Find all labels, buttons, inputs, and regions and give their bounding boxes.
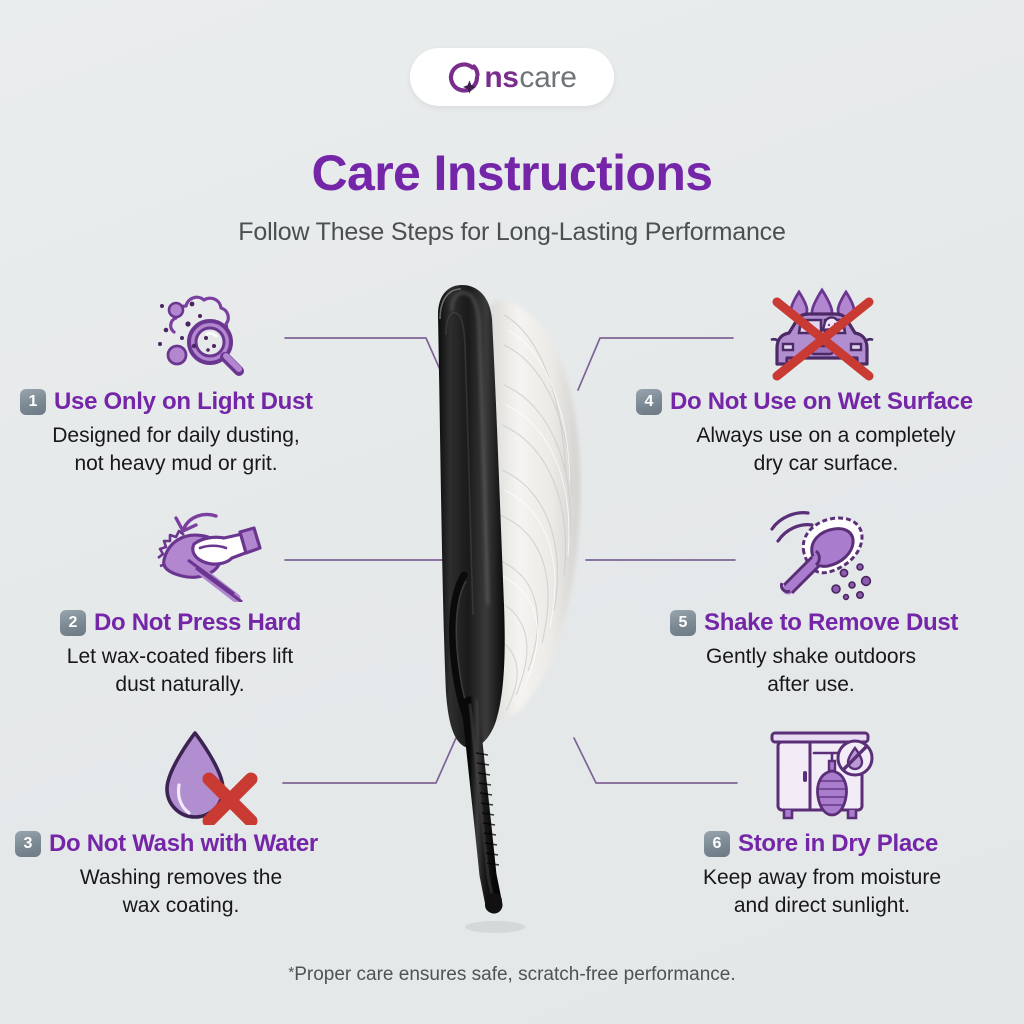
- step-6-number-badge: 6: [704, 831, 730, 857]
- shaking-duster-icon: [764, 507, 880, 603]
- step-6-icon-box: [622, 726, 1022, 826]
- footnote: *Proper care ensures safe, scratch-free …: [0, 964, 1024, 986]
- step-1: 1 Use Only on Light Dust Designed for da…: [8, 284, 408, 478]
- step-3: 3 Do Not Wash with Water Washing removes…: [5, 726, 405, 920]
- step-1-icon-box: [8, 284, 408, 384]
- wet-car-crossed-icon: [765, 286, 879, 382]
- infographic-canvas: ns care Care Instructions Follow These S…: [0, 0, 1024, 1024]
- step-2-number-badge: 2: [60, 610, 86, 636]
- step-3-number-badge: 3: [15, 831, 41, 857]
- hand-pressing-duster-icon: [150, 508, 266, 602]
- step-1-header: 1 Use Only on Light Dust: [8, 388, 408, 416]
- step-5-number-badge: 5: [670, 610, 696, 636]
- brand-logo: ns care: [410, 48, 614, 106]
- step-5: 5 Shake to Remove Dust Gently shake outd…: [622, 505, 1022, 699]
- step-6-description: Keep away from moisture and direct sunli…: [622, 864, 1022, 920]
- step-4-description: Always use on a completely dry car surfa…: [622, 422, 1022, 478]
- step-1-number-badge: 1: [20, 389, 46, 415]
- cabinet-storage-icon: [766, 727, 878, 825]
- step-3-description: Washing removes the wax coating.: [5, 864, 405, 920]
- step-2-header: 2 Do Not Press Hard: [8, 609, 408, 637]
- step-3-title: Do Not Wash with Water: [49, 830, 318, 858]
- magnifier-dust-icon: [152, 286, 264, 382]
- step-3-icon-box: [5, 726, 405, 826]
- step-6-header: 6 Store in Dry Place: [622, 830, 1022, 858]
- step-6: 6 Store in Dry Place Keep away from mois…: [622, 726, 1022, 920]
- step-4-number-badge: 4: [636, 389, 662, 415]
- step-5-description: Gently shake outdoors after use.: [622, 643, 1022, 699]
- step-4-title: Do Not Use on Wet Surface: [670, 388, 973, 416]
- page-subtitle: Follow These Steps for Long-Lasting Perf…: [0, 218, 1024, 247]
- step-2-icon-box: [8, 505, 408, 605]
- step-3-header: 3 Do Not Wash with Water: [5, 830, 405, 858]
- q-sparkle-logo-icon: [447, 59, 483, 95]
- car-duster-product-photo: [400, 275, 630, 940]
- step-1-description: Designed for daily dusting, not heavy mu…: [8, 422, 408, 478]
- page-title: Care Instructions: [0, 144, 1024, 202]
- step-2-description: Let wax-coated fibers lift dust naturall…: [8, 643, 408, 699]
- step-2-title: Do Not Press Hard: [94, 609, 301, 637]
- step-5-icon-box: [622, 505, 1022, 605]
- step-4-header: 4 Do Not Use on Wet Surface: [622, 388, 1022, 416]
- step-6-title: Store in Dry Place: [738, 830, 938, 858]
- brand-name-mark: ns: [484, 63, 518, 93]
- step-2: 2 Do Not Press Hard Let wax-coated fiber…: [8, 505, 408, 699]
- step-5-header: 5 Shake to Remove Dust: [622, 609, 1022, 637]
- footnote-text: Proper care ensures safe, scratch-free p…: [294, 964, 735, 985]
- step-1-title: Use Only on Light Dust: [54, 388, 313, 416]
- step-4-icon-box: [622, 284, 1022, 384]
- brand-name-rest: care: [519, 63, 576, 93]
- water-drop-crossed-icon: [151, 727, 259, 825]
- step-4: 4 Do Not Use on Wet Surface Always use o…: [622, 284, 1022, 478]
- step-5-title: Shake to Remove Dust: [704, 609, 958, 637]
